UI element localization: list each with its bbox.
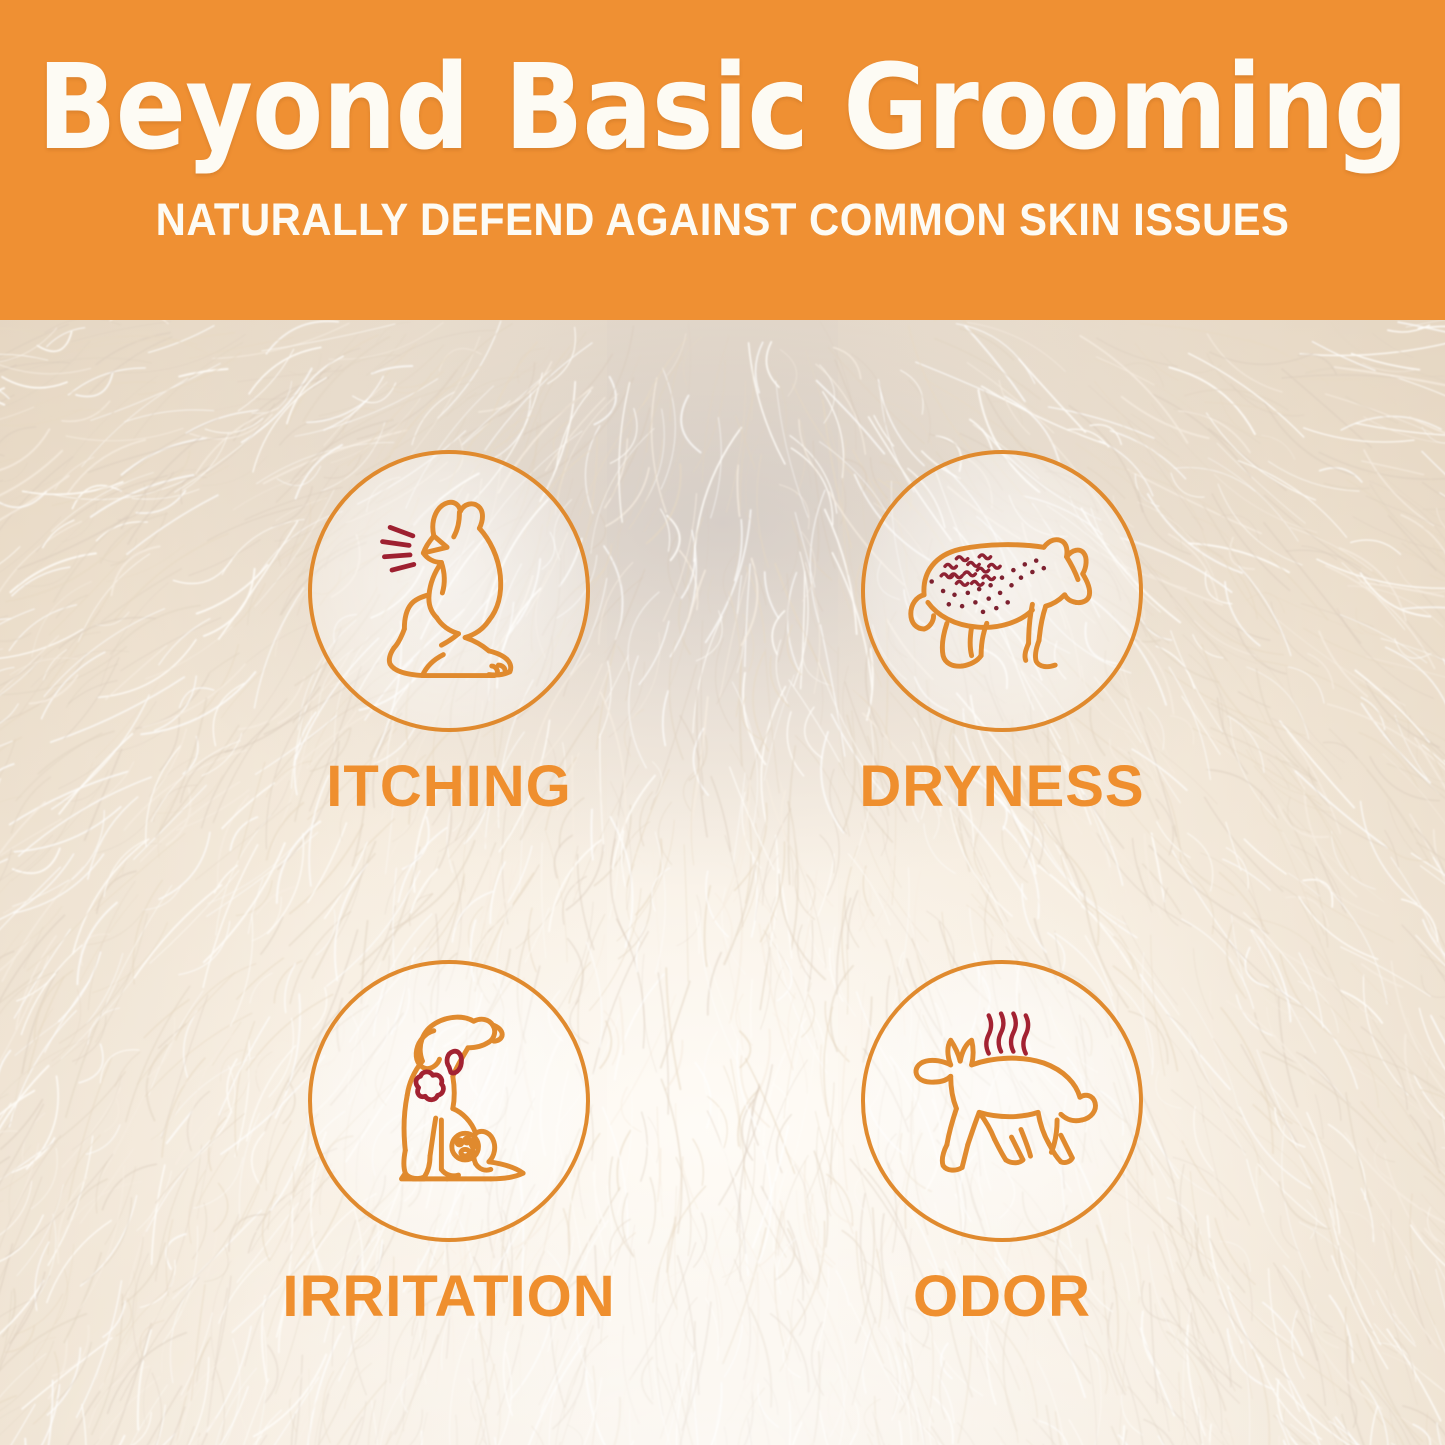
issue-card-irritation[interactable]: IRRITATION (169, 960, 729, 1326)
dry-flakes (941, 555, 1000, 585)
issue-label-dryness: DRYNESS (722, 758, 1282, 816)
issue-badge-itching (308, 450, 590, 732)
skin-issues-grid: ITCHING (0, 320, 1445, 1445)
issue-card-odor[interactable]: ODOR (722, 960, 1282, 1326)
issue-label-itching: ITCHING (169, 758, 729, 816)
issue-badge-dryness (861, 450, 1143, 732)
page-subtitle: NATURALLY DEFEND AGAINST COMMON SKIN ISS… (156, 194, 1290, 246)
dog-scratching-icon (335, 477, 563, 705)
issue-card-dryness[interactable]: DRYNESS (722, 450, 1282, 816)
infographic-page: Beyond Basic Grooming NATURALLY DEFEND A… (0, 0, 1445, 1445)
dog-dry-flaky-skin-icon (888, 477, 1116, 705)
odor-waves (986, 1014, 1028, 1054)
dog-odor-icon (888, 987, 1116, 1215)
dog-irritated-patch-icon (335, 987, 563, 1215)
itch-lines (383, 527, 414, 570)
issue-badge-irritation (308, 960, 590, 1242)
issue-badge-odor (861, 960, 1143, 1242)
issue-label-irritation: IRRITATION (169, 1268, 729, 1326)
issue-card-itching[interactable]: ITCHING (169, 450, 729, 816)
page-title: Beyond Basic Grooming (37, 48, 1407, 166)
issue-label-odor: ODOR (722, 1268, 1282, 1326)
header-banner: Beyond Basic Grooming NATURALLY DEFEND A… (0, 0, 1445, 320)
